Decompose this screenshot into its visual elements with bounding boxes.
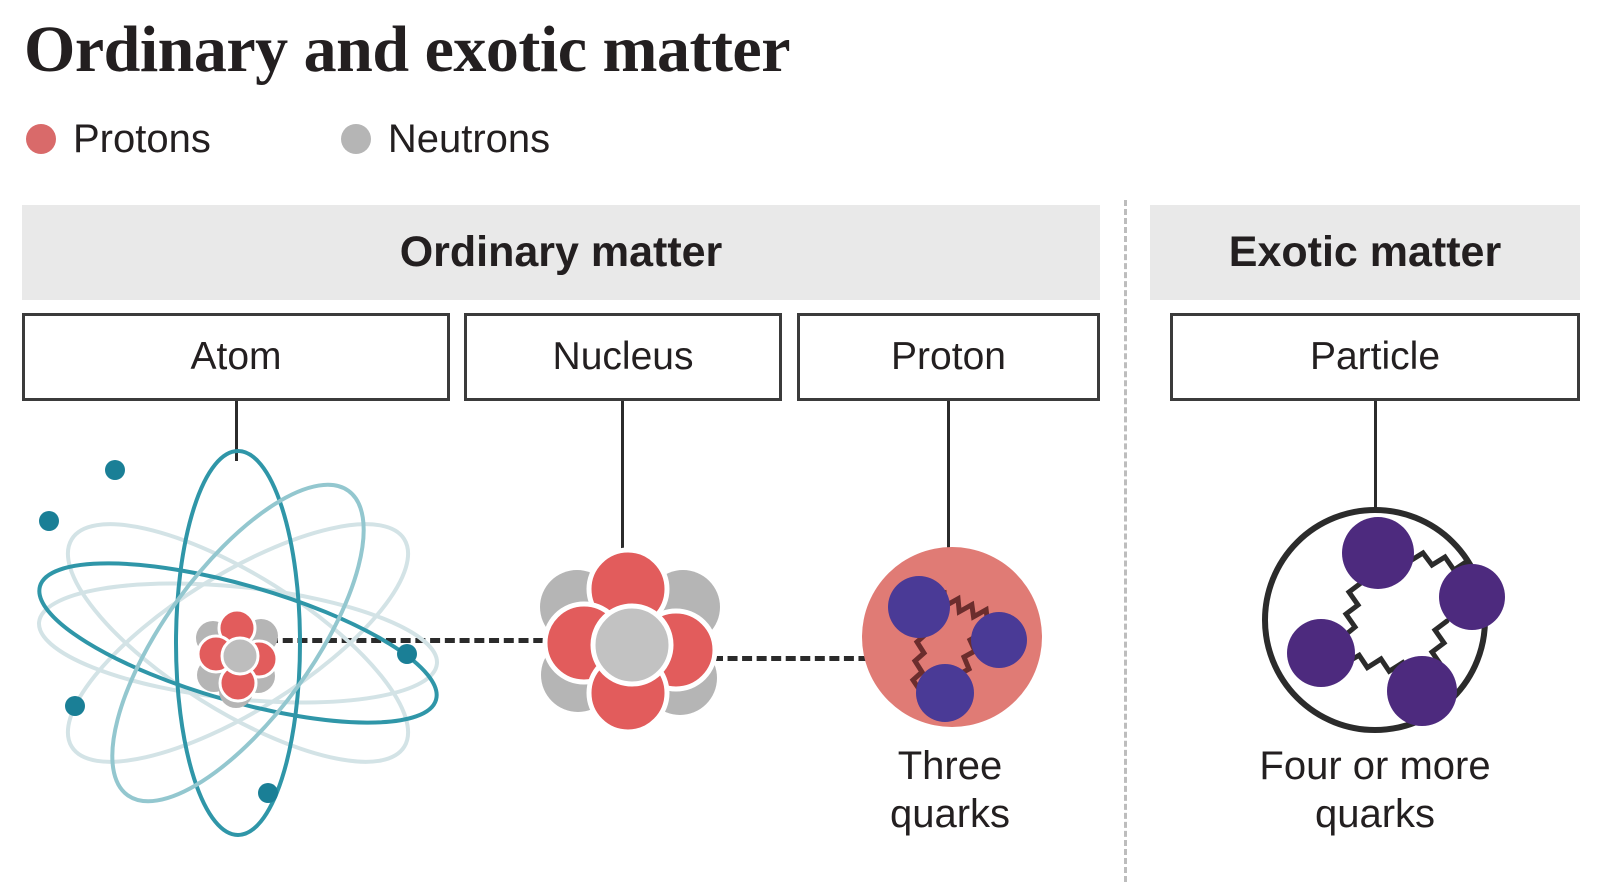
legend-item-protons: Protons xyxy=(26,117,211,161)
section-header-exotic-matter: Exotic matter xyxy=(1150,205,1580,300)
caption-line: quarks xyxy=(1160,790,1590,838)
quark-dot xyxy=(1387,656,1457,726)
node-box-proton: Proton xyxy=(797,313,1100,401)
legend-label-protons: Protons xyxy=(73,117,211,161)
section-header-label: Ordinary matter xyxy=(400,228,723,277)
node-box-nucleus: Nucleus xyxy=(464,313,782,401)
caption-line: Four or more xyxy=(1160,742,1590,790)
section-header-ordinary-matter: Ordinary matter xyxy=(22,205,1100,300)
exotic-particle-illustration xyxy=(1225,505,1525,735)
electron-dot xyxy=(258,783,278,803)
node-box-label: Particle xyxy=(1310,335,1440,379)
electron-dot xyxy=(397,644,417,664)
caption-line: quarks xyxy=(810,790,1090,838)
node-box-atom: Atom xyxy=(22,313,450,401)
quark-dot xyxy=(1439,564,1505,630)
electron-dot xyxy=(105,460,125,480)
quark-dot xyxy=(916,664,974,722)
electron-dot xyxy=(39,511,59,531)
neutrons-circle-icon xyxy=(341,124,371,154)
connector-stem-nucleus xyxy=(621,401,624,551)
legend-label-neutrons: Neutrons xyxy=(388,117,550,161)
section-divider xyxy=(1124,200,1127,882)
node-box-label: Nucleus xyxy=(553,335,694,379)
quark-dot xyxy=(971,612,1027,668)
page-title: Ordinary and exotic matter xyxy=(24,8,790,92)
caption-particle: Four or more quarks xyxy=(1160,742,1590,838)
nucleus-illustration xyxy=(520,545,740,730)
legend: Protons Neutrons xyxy=(26,110,550,168)
atom-illustration xyxy=(18,438,458,858)
connector-stem-particle xyxy=(1374,401,1377,521)
section-header-label: Exotic matter xyxy=(1229,228,1501,277)
proton-illustration xyxy=(855,545,1050,730)
quark-dot xyxy=(888,576,950,638)
connector-stem-proton xyxy=(947,401,950,551)
node-box-label: Atom xyxy=(190,335,281,379)
protons-circle-icon xyxy=(26,124,56,154)
node-box-label: Proton xyxy=(891,335,1006,379)
caption-proton: Three quarks xyxy=(810,742,1090,838)
caption-line: Three xyxy=(810,742,1090,790)
quark-dot xyxy=(1287,619,1355,687)
legend-item-neutrons: Neutrons xyxy=(341,117,550,161)
electron-dot xyxy=(65,696,85,716)
quark-dot xyxy=(1342,517,1414,589)
node-box-particle: Particle xyxy=(1170,313,1580,401)
